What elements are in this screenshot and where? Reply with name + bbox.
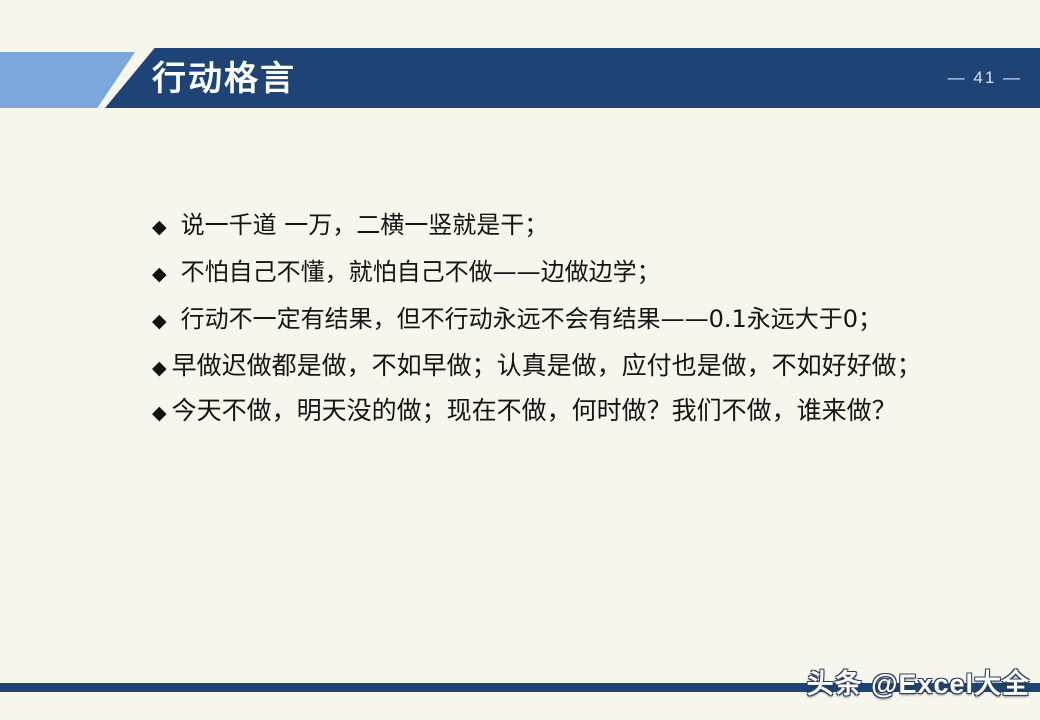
- list-item: ◆ 早做迟做都是做，不如早做；认真是做，应付也是做，不如好好做；: [152, 346, 1012, 391]
- diamond-bullet-icon: ◆: [152, 218, 167, 237]
- page-number: — 41 —: [948, 48, 1022, 108]
- diamond-bullet-icon: ◆: [152, 404, 167, 423]
- watermark-text: 头条 @Excel大全: [807, 662, 1030, 701]
- page-title: 行动格言: [152, 50, 296, 108]
- list-item-text: 说一千道 一万，二横一竖就是干；: [167, 205, 549, 240]
- slide-canvas: 行动格言 — 41 — ◆ 说一千道 一万，二横一竖就是干； ◆ 不怕自己不懂，…: [0, 0, 1040, 720]
- bullet-list: ◆ 说一千道 一万，二横一竖就是干； ◆ 不怕自己不懂，就怕自己不做——边做边学…: [152, 205, 1012, 436]
- list-item-text: 早做迟做都是做，不如早做；认真是做，应付也是做，不如好好做；: [167, 346, 922, 382]
- list-item: ◆ 不怕自己不懂，就怕自己不做——边做边学；: [152, 252, 1012, 299]
- list-item: ◆ 行动不一定有结果，但不行动永远不会有结果——0.1永远大于0；: [152, 299, 1012, 346]
- diamond-bullet-icon: ◆: [152, 265, 167, 284]
- list-item-text: 不怕自己不懂，就怕自己不做——边做边学；: [167, 252, 661, 287]
- list-item: ◆ 说一千道 一万，二横一竖就是干；: [152, 205, 1012, 252]
- list-item: ◆ 今天不做，明天没的做；现在不做，何时做？我们不做，谁来做？: [152, 391, 1012, 436]
- list-item-text: 今天不做，明天没的做；现在不做，何时做？我们不做，谁来做？: [167, 391, 897, 427]
- slide-header: 行动格言 — 41 —: [0, 0, 1040, 120]
- list-item-text: 行动不一定有结果，但不行动永远不会有结果——0.1永远大于0；: [167, 299, 882, 334]
- diamond-bullet-icon: ◆: [152, 312, 167, 331]
- diamond-bullet-icon: ◆: [152, 359, 167, 378]
